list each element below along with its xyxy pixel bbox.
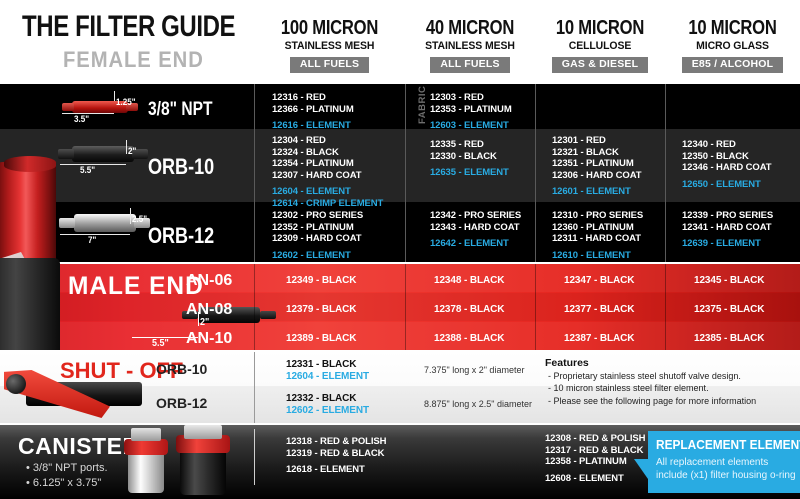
part-number: 12332 - BLACK (286, 393, 369, 405)
size-label-shutoff-orb10: ORB-10 (156, 361, 207, 377)
part-number: 12350 - BLACK (682, 151, 771, 163)
column-material-0: STAINLESS MESH (258, 40, 401, 52)
element-part-number: 12639 - ELEMENT (682, 238, 773, 250)
cell-male-10micron-cellulose-3: 12387 - BLACK (564, 333, 634, 345)
part-number: 12330 - BLACK (430, 151, 509, 163)
dim-diameter-orb10: 2" (128, 146, 136, 156)
element-part-number: 12604 - ELEMENT (286, 371, 369, 383)
element-part-number: 12602 - ELEMENT (272, 250, 363, 262)
section-title-male-end: MALE END (68, 272, 204, 301)
element-part-number: 12602 - ELEMENT (286, 405, 369, 417)
element-part-number: 12635 - ELEMENT (430, 167, 509, 179)
column-header-0: 100 MICRON STAINLESS MESH ALL FUELS (254, 18, 405, 73)
cell-male-40micron-2: 12378 - BLACK (434, 304, 504, 316)
part-number: 12306 - HARD COAT (552, 170, 641, 182)
cell-orb12-100micron: 12302 - PRO SERIES 12352 - PLATINUM 1230… (272, 210, 363, 261)
canister-specs: • 3/8" NPT ports. • 6.125" x 3.75" (26, 461, 108, 491)
cell-male-10micron-cellulose-2: 12377 - BLACK (564, 304, 634, 316)
part-number: 12340 - RED (682, 139, 771, 151)
cell-orb12-10micron-cellulose: 12310 - PRO SERIES 12360 - PLATINUM 1231… (552, 210, 643, 261)
part-number: 12378 - BLACK (434, 304, 504, 316)
cell-male-100micron-2: 12379 - BLACK (286, 304, 356, 316)
cell-orb10-100micron: 12304 - RED 12324 - BLACK 12354 - PLATIN… (272, 135, 383, 210)
part-number: 12335 - RED (430, 139, 509, 151)
male-end-art (0, 258, 60, 356)
cell-male-40micron-3: 12388 - BLACK (434, 333, 504, 345)
feature-item: - 10 micron stainless steel filter eleme… (548, 382, 756, 394)
part-number: 12351 - PLATINUM (552, 158, 641, 170)
size-label-an10: AN-10 (186, 330, 232, 348)
cell-canister-100micron: 12318 - RED & POLISH 12319 - RED & BLACK… (286, 436, 386, 476)
column-divider (254, 84, 255, 262)
dim-diameter-orb12: 2.5" (132, 214, 147, 224)
part-number: 12358 - PLATINUM (545, 456, 645, 468)
dim-length-orb12: 7" (88, 235, 96, 245)
part-number: 12301 - RED (552, 135, 641, 147)
column-micron-2: 10 MICRON (546, 18, 654, 38)
female-end-table: 3.5" 1.25" 3/8" NPT 5.5" 2" ORB-10 7" 2.… (0, 84, 800, 262)
cell-male-10micron-microglass-3: 12385 - BLACK (694, 333, 764, 345)
part-number: 12341 - HARD COAT (682, 222, 773, 234)
cell-npt-100micron: 12316 - RED 12366 - PLATINUM 12616 - ELE… (272, 92, 354, 132)
column-micron-0: 100 MICRON (267, 18, 392, 38)
part-number: 12324 - BLACK (272, 147, 383, 159)
part-number: 12346 - HARD COAT (682, 162, 771, 174)
features-title: Features (545, 357, 589, 369)
row-label-orb12: ORB-12 (148, 223, 214, 249)
part-number: 12377 - BLACK (564, 304, 634, 316)
cell-orb10-10micron-microglass: 12340 - RED 12350 - BLACK 12346 - HARD C… (682, 139, 771, 190)
part-number: 12345 - BLACK (694, 275, 764, 287)
part-number: 12318 - RED & POLISH (286, 436, 386, 448)
element-part-number: 12642 - ELEMENT (430, 238, 521, 250)
cell-orb12-10micron-microglass: 12339 - PRO SERIES 12341 - HARD COAT 126… (682, 210, 773, 250)
part-number: 12348 - BLACK (434, 275, 504, 287)
section-title-canister: CANISTER (18, 433, 140, 460)
dim-length-male: 5.5" (152, 338, 169, 349)
column-micron-1: 40 MICRON (416, 18, 524, 38)
row-label-npt: 3/8" NPT (148, 99, 213, 121)
column-divider (254, 352, 255, 423)
part-number: 12302 - PRO SERIES (272, 210, 363, 222)
column-divider (405, 84, 406, 262)
feature-item: - Please see the following page for more… (548, 395, 756, 407)
column-fuel-badge-3: E85 / ALCOHOL (682, 57, 784, 73)
column-divider (254, 264, 255, 350)
cell-male-100micron-3: 12389 - BLACK (286, 333, 356, 345)
canister-spec-item: • 3/8" NPT ports. (26, 461, 108, 476)
element-part-number: 12618 - ELEMENT (286, 464, 386, 476)
column-divider (665, 264, 666, 350)
dim-diameter-npt: 1.25" (116, 97, 136, 107)
element-part-number: 12616 - ELEMENT (272, 120, 354, 132)
cell-npt-40micron: 12303 - RED 12353 - PLATINUM 12603 - ELE… (430, 92, 512, 132)
feature-item: - Proprietary stainless steel shutoff va… (548, 370, 756, 382)
cell-orb10-40micron: 12335 - RED 12330 - BLACK 12635 - ELEMEN… (430, 139, 509, 179)
cell-male-100micron: 12349 - BLACK (286, 275, 356, 287)
part-number: 12310 - PRO SERIES (552, 210, 643, 222)
column-header-3: 10 MICRON MICRO GLASS E85 / ALCOHOL (665, 18, 800, 73)
cell-male-10micron-microglass: 12345 - BLACK (694, 275, 764, 287)
column-material-1: STAINLESS MESH (408, 40, 532, 52)
size-label-shutoff-orb12: ORB-12 (156, 395, 207, 411)
page-title: THE FILTER GUIDE (22, 10, 235, 44)
part-number: 12321 - BLACK (552, 147, 641, 159)
part-number: 12304 - RED (272, 135, 383, 147)
part-number: 12379 - BLACK (286, 304, 356, 316)
part-number: 12307 - HARD COAT (272, 170, 383, 182)
part-number: 12352 - PLATINUM (272, 222, 363, 234)
cell-orb12-40micron: 12342 - PRO SERIES 12343 - HARD COAT 126… (430, 210, 521, 250)
cell-orb10-10micron-cellulose: 12301 - RED 12321 - BLACK 12351 - PLATIN… (552, 135, 641, 198)
part-number: 12353 - PLATINUM (430, 104, 512, 116)
replacement-elements-body: All replacement elements include (x1) fi… (656, 457, 796, 482)
replacement-elements-title: REPLACEMENT ELEMENTS (656, 438, 800, 452)
cell-male-10micron-microglass-2: 12375 - BLACK (694, 304, 764, 316)
cell-shutoff-orb10: 12331 - BLACK 12604 - ELEMENT (286, 359, 369, 382)
part-number: 12354 - PLATINUM (272, 158, 383, 170)
part-number: 12389 - BLACK (286, 333, 356, 345)
dimension-note-orb12: 8.875" long x 2.5" diameter (424, 399, 532, 409)
size-label-an08: AN-08 (186, 301, 232, 319)
shutoff-section: SHUT - OFF ORB-10 ORB-12 12331 - BLACK 1… (0, 350, 800, 425)
element-part-number: 12603 - ELEMENT (430, 120, 512, 132)
column-divider (254, 429, 255, 485)
section-title-female-end: FEMALE END (63, 47, 204, 73)
column-material-3: MICRO GLASS (668, 40, 796, 52)
column-micron-3: 10 MICRON (676, 18, 788, 38)
canister-spec-item: • 6.125" x 3.75" (26, 476, 108, 491)
part-number: 12308 - RED & POLISH (545, 433, 645, 445)
part-number: 12319 - RED & BLACK (286, 448, 386, 460)
part-number: 12388 - BLACK (434, 333, 504, 345)
part-number: 12331 - BLACK (286, 359, 369, 371)
dim-length-npt: 3.5" (74, 114, 89, 124)
part-number: 12311 - HARD COAT (552, 233, 643, 245)
size-label-an06: AN-06 (186, 272, 232, 290)
part-number: 12309 - HARD COAT (272, 233, 363, 245)
element-part-number: 12608 - ELEMENT (545, 473, 645, 485)
red-canister-cap-art (4, 156, 56, 172)
product-image-orb12 (56, 208, 154, 240)
element-part-number: 12650 - ELEMENT (682, 179, 771, 191)
part-number: 12316 - RED (272, 92, 354, 104)
male-end-section: MALE END 5.5" 2" AN-06 AN-08 AN-10 12349… (0, 264, 800, 350)
fabric-label: FABRIC (417, 86, 428, 124)
column-fuel-badge-2: GAS & DIESEL (552, 57, 649, 73)
column-header-1: 40 MICRON STAINLESS MESH ALL FUELS (405, 18, 535, 73)
part-number: 12303 - RED (430, 92, 512, 104)
part-number: 12387 - BLACK (564, 333, 634, 345)
part-number: 12343 - HARD COAT (430, 222, 521, 234)
column-material-2: CELLULOSE (538, 40, 662, 52)
column-divider (405, 264, 406, 350)
part-number: 12349 - BLACK (286, 275, 356, 287)
row-label-orb10: ORB-10 (148, 154, 214, 180)
dimension-note-orb10: 7.375" long x 2" diameter (424, 365, 524, 375)
part-number: 12375 - BLACK (694, 304, 764, 316)
part-number: 12360 - PLATINUM (552, 222, 643, 234)
element-part-number: 12604 - ELEMENT (272, 186, 383, 198)
column-divider (535, 264, 536, 350)
element-part-number: 12614 - CRIMP ELEMENT (272, 198, 383, 210)
part-number: 12385 - BLACK (694, 333, 764, 345)
part-number: 12317 - RED & BLACK (545, 445, 645, 457)
part-number: 12339 - PRO SERIES (682, 210, 773, 222)
element-part-number: 12610 - ELEMENT (552, 250, 643, 262)
column-divider (665, 84, 666, 262)
column-fuel-badge-0: ALL FUELS (290, 57, 369, 73)
cell-shutoff-orb12: 12332 - BLACK 12602 - ELEMENT (286, 393, 369, 416)
cell-canister-10micron-cellulose: 12308 - RED & POLISH 12317 - RED & BLACK… (545, 433, 645, 484)
cell-male-10micron-cellulose: 12347 - BLACK (564, 275, 634, 287)
dim-length-orb10: 5.5" (80, 165, 95, 175)
column-fuel-badge-1: ALL FUELS (430, 57, 509, 73)
column-header-2: 10 MICRON CELLULOSE GAS & DIESEL (535, 18, 665, 73)
part-number: 12347 - BLACK (564, 275, 634, 287)
filter-guide-page: THE FILTER GUIDE FEMALE END 100 MICRON S… (0, 0, 800, 499)
replacement-elements-callout: REPLACEMENT ELEMENTS All replacement ele… (648, 431, 800, 493)
cell-male-40micron: 12348 - BLACK (434, 275, 504, 287)
features-list: - Proprietary stainless steel shutoff va… (548, 370, 756, 407)
part-number: 12342 - PRO SERIES (430, 210, 521, 222)
column-divider (535, 84, 536, 262)
element-part-number: 12601 - ELEMENT (552, 186, 641, 198)
part-number: 12366 - PLATINUM (272, 104, 354, 116)
